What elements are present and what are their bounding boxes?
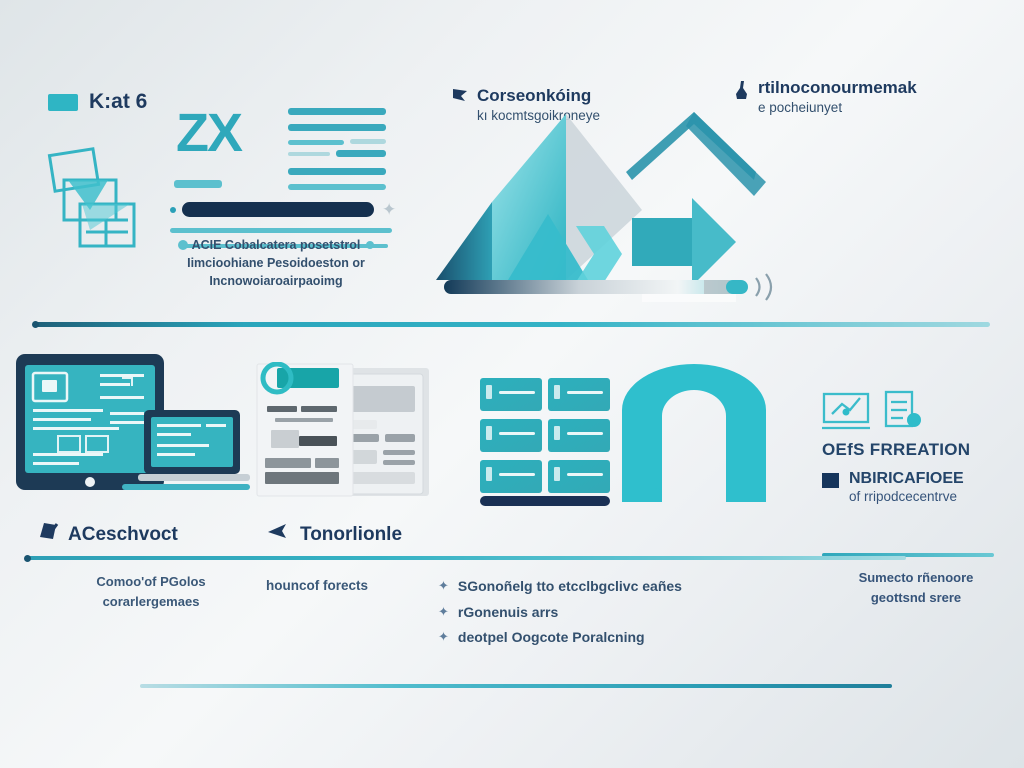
- sparkle-icon: ✦: [382, 200, 396, 220]
- card-grid: [480, 378, 610, 498]
- text-bar: [288, 140, 344, 145]
- legend-color-swatch: [48, 94, 78, 111]
- grid-card[interactable]: [480, 419, 542, 452]
- bullet-text: deotpel Oogcote Poralcning: [458, 627, 645, 649]
- card-line: [567, 473, 603, 476]
- triangle-left-icon: [266, 522, 288, 547]
- card-line: [499, 432, 535, 435]
- heading-title: rtilnoconourmemak: [758, 78, 917, 98]
- text-bar: [288, 152, 330, 156]
- section-caption-1: ACeschvoct: [38, 522, 178, 547]
- bullet-icon: ✦: [438, 576, 449, 596]
- right-footer-line-2: geottsnd srere: [826, 588, 1006, 608]
- card-icon: [486, 467, 492, 481]
- diamond-check-icon: [38, 522, 60, 547]
- card-grid-base: [480, 496, 610, 506]
- right-icon-row: [820, 388, 940, 438]
- square-marker-icon: [822, 473, 839, 488]
- right-label-2-sub: of rripodcecentrve: [849, 489, 964, 504]
- bottom-left-line-1: Comoo'of PGolos: [56, 572, 246, 592]
- bullet-text: SGonoñelg tto etcclbgclivc eañes: [458, 576, 682, 598]
- zx-caption: ACIE Cobalcatera posetstrol Iimcioohiane…: [158, 236, 394, 290]
- card-line: [499, 473, 535, 476]
- divider-dot: [32, 321, 39, 328]
- divider-dot: [24, 555, 31, 562]
- bottom-left-text: Comoo'of PGolos corarlergemaes: [56, 572, 246, 611]
- zx-heading: ZX: [176, 106, 241, 160]
- section-divider-main: [34, 322, 990, 327]
- section-divider-bottom: [140, 684, 892, 688]
- flag-icon: [452, 88, 468, 110]
- device-mockups: [14, 352, 254, 502]
- right-label-notification: NBIRICAFIOEE of rripodcecentrve: [822, 470, 1012, 504]
- right-footer-line-1: Sumecto rñenoore: [826, 568, 1006, 588]
- text-bar: [350, 139, 386, 144]
- section-caption-2: Tonorlionle: [266, 522, 402, 547]
- text-bar: [336, 150, 386, 157]
- heading-title: Corseonkóing: [477, 86, 600, 106]
- card-icon: [554, 467, 560, 481]
- pin-icon: [735, 80, 749, 107]
- bar-dot: [170, 207, 176, 213]
- stacked-papers-icon: [46, 146, 150, 258]
- right-footer-text: Sumecto rñenoore geottsnd srere: [826, 568, 1006, 607]
- arch-shape: [614, 362, 774, 507]
- section-caption-1-label: ACeschvoct: [68, 524, 178, 546]
- text-bar: [288, 108, 386, 115]
- zx-caption-line-2: Iimcioohiane Pesoidoeston or: [158, 254, 394, 272]
- text-bar: [288, 184, 386, 190]
- card-icon: [554, 426, 560, 440]
- section-divider-sub: [26, 556, 906, 560]
- bottom-left-line-2: corarlergemaes: [56, 592, 246, 612]
- bullet-list: ✦SGonoñelg tto etcclbgclivc eañes ✦rGone…: [438, 576, 738, 653]
- grid-card[interactable]: [548, 378, 610, 411]
- card-line: [567, 391, 603, 394]
- grid-card[interactable]: [548, 419, 610, 452]
- grid-card[interactable]: [548, 460, 610, 493]
- infographic-canvas: K:at 6 ZX ✦: [0, 0, 1024, 768]
- list-item: ✦SGonoñelg tto etcclbgclivc eañes: [438, 576, 738, 598]
- legend-label: K:at 6: [89, 90, 147, 114]
- slider-track: [170, 228, 392, 233]
- bullet-text: rGonenuis arrs: [458, 602, 558, 624]
- text-bar: [288, 124, 386, 131]
- right-label-2-title: NBIRICAFIOEE: [849, 470, 964, 488]
- section-caption-2-label: Tonorlionle: [300, 524, 402, 546]
- grid-card[interactable]: [480, 460, 542, 493]
- document-pages-mockup: [255, 362, 435, 502]
- bullet-icon: ✦: [438, 627, 449, 647]
- grid-card[interactable]: [480, 378, 542, 411]
- legend-chip: K:at 6: [48, 90, 147, 114]
- list-item: ✦rGonenuis arrs: [438, 602, 738, 624]
- card-icon: [554, 385, 560, 399]
- zx-caption-line-1: ACIE Cobalcatera posetstrol: [158, 236, 394, 254]
- text-bar: [174, 180, 222, 188]
- card-line: [499, 391, 535, 394]
- zx-caption-line-3: Incnowoiaroairpaoimg: [158, 272, 394, 290]
- progress-bar-filled: [182, 202, 374, 217]
- card-icon: [486, 385, 492, 399]
- card-line: [567, 432, 603, 435]
- mountain-arrow-shapes: [436, 110, 896, 310]
- card-icon: [486, 426, 492, 440]
- list-item: ✦deotpel Oogcote Poralcning: [438, 627, 738, 649]
- bottom-mid-text: houncof forects: [266, 578, 416, 593]
- bullet-icon: ✦: [438, 602, 449, 622]
- text-bar: [288, 168, 386, 175]
- right-label-1-text: OEfS FRREATION: [822, 440, 970, 459]
- right-label-creation: OEfS FRREATION: [822, 440, 1008, 460]
